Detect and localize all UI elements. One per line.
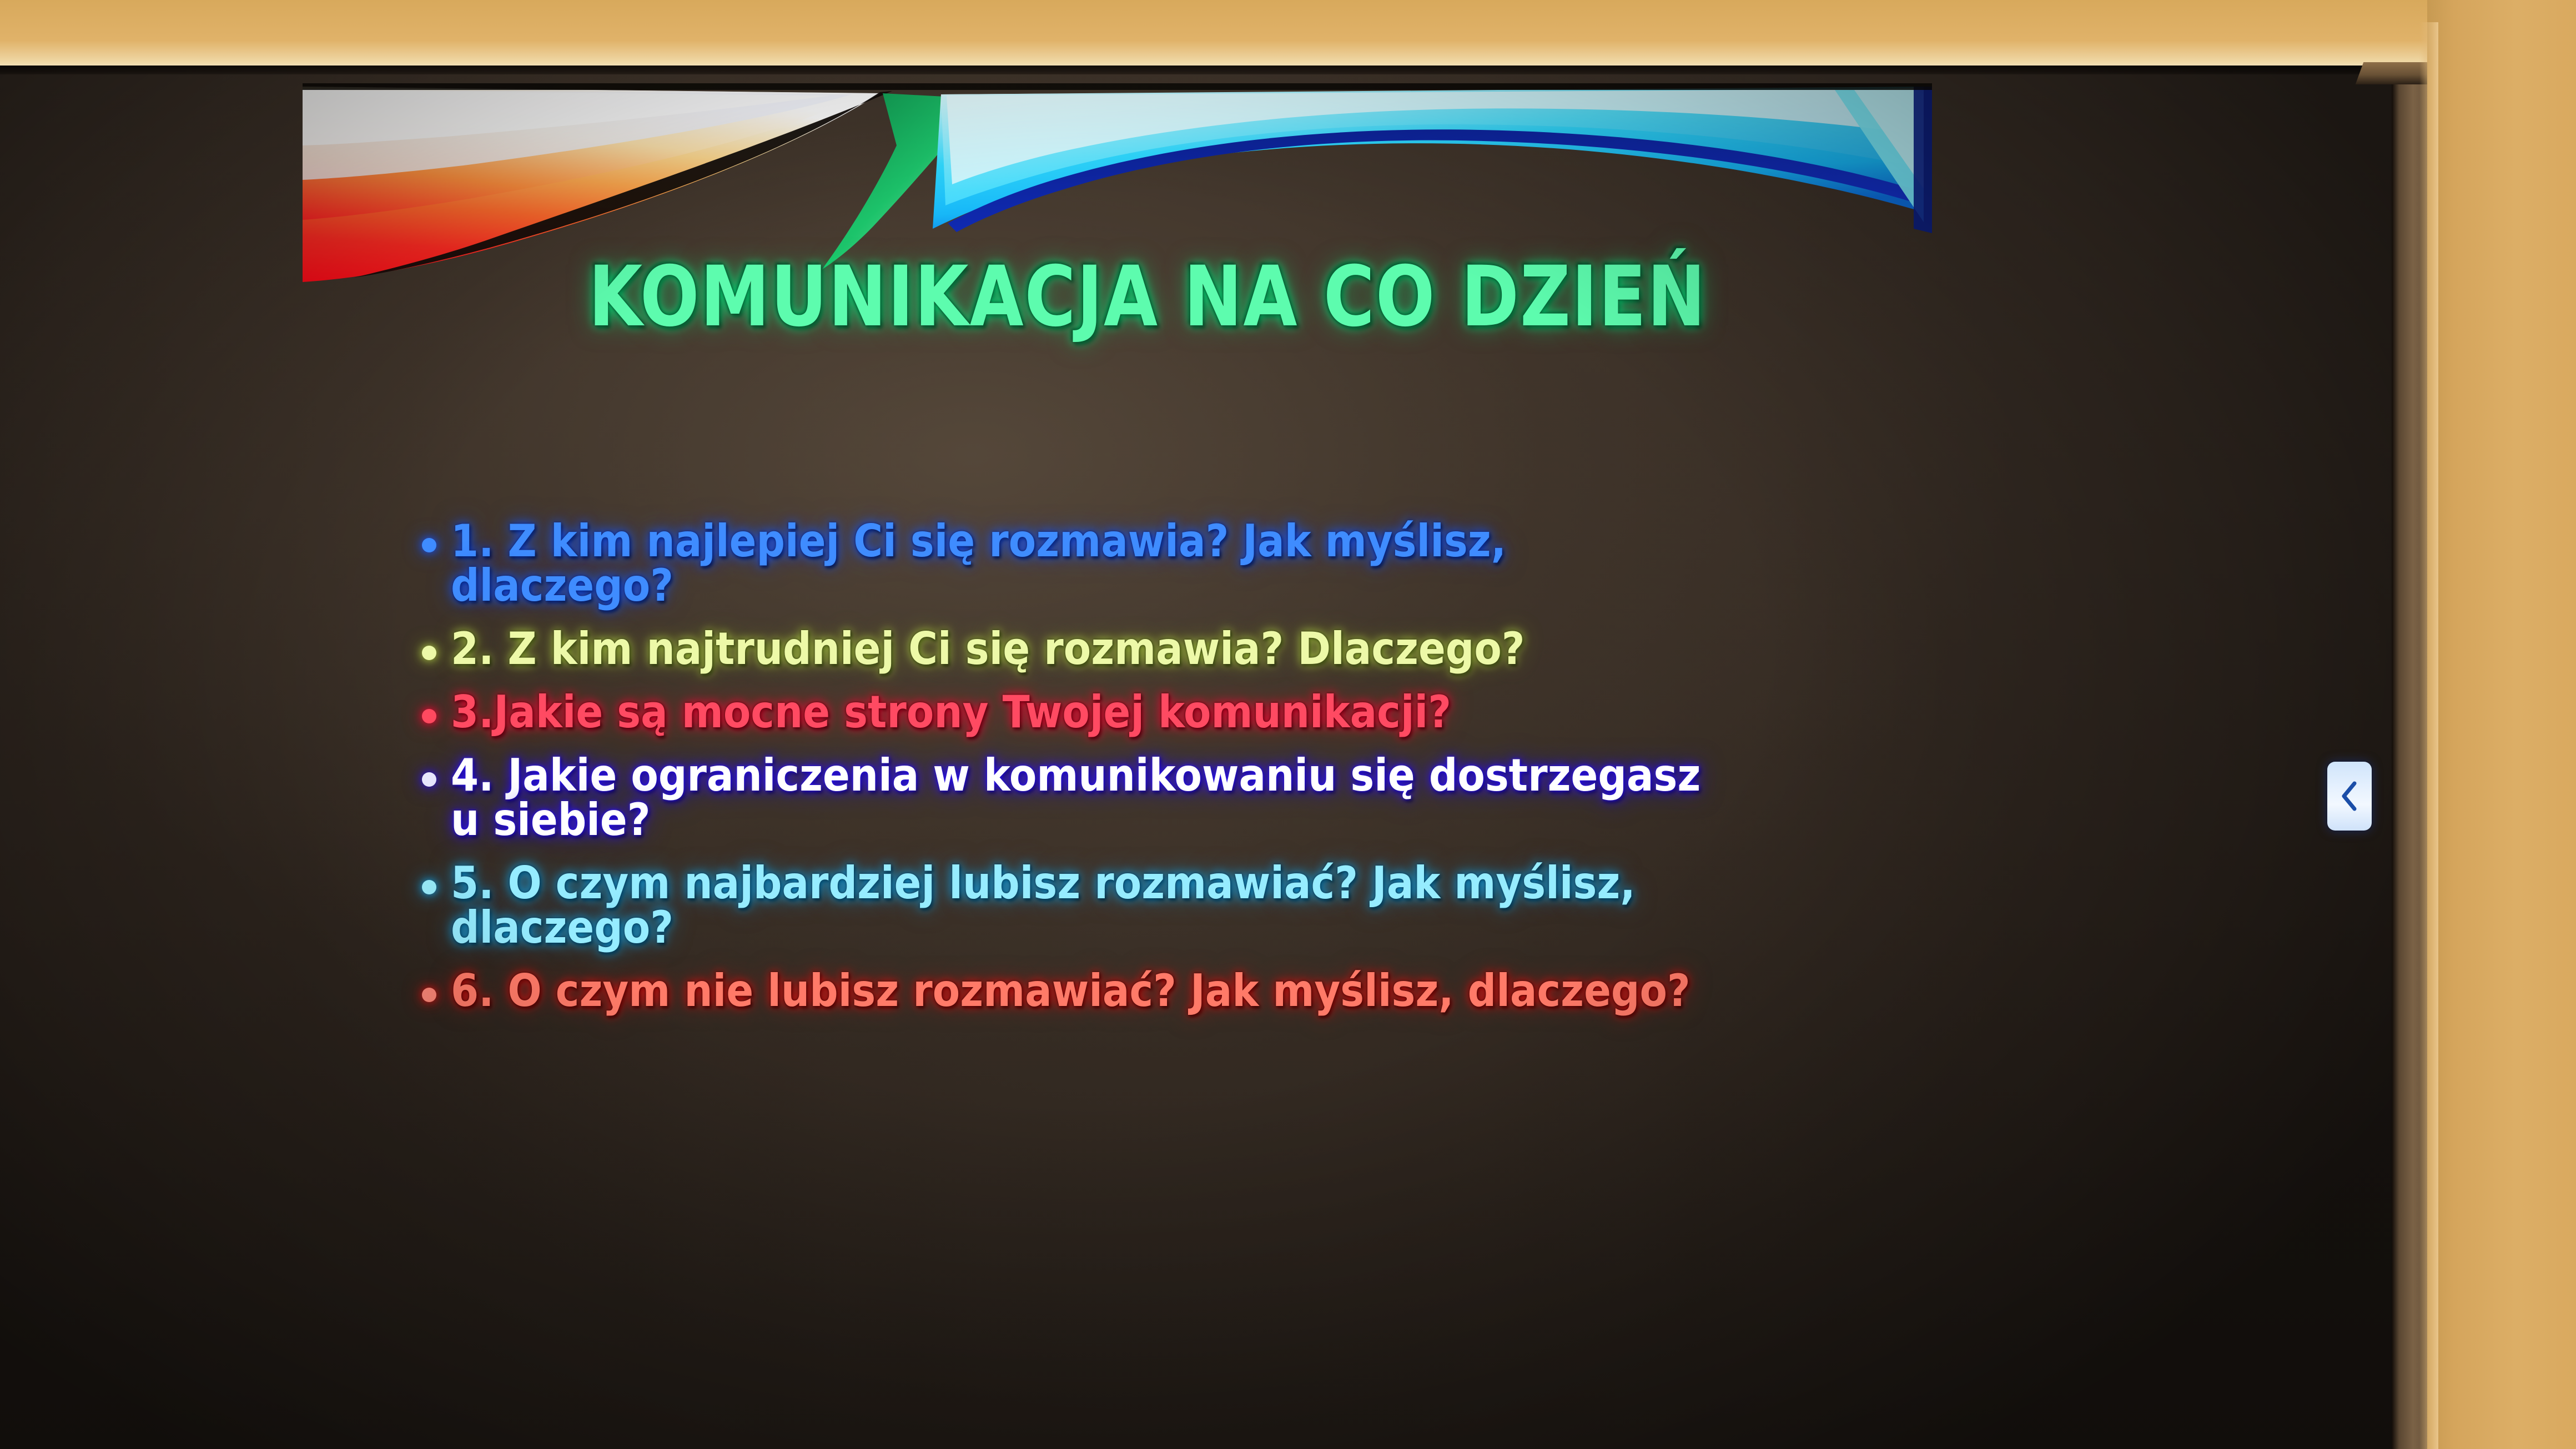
bullet-dot-icon — [422, 988, 436, 1002]
slide-title: KOMUNIKACJA NA CO DZIEŃ — [588, 249, 1931, 345]
previous-slide-button[interactable] — [2327, 762, 2372, 831]
chevron-left-icon — [2337, 779, 2362, 813]
list-item: 5. O czym najbardziej lubisz rozmawiać? … — [422, 861, 2032, 950]
bullet-dot-icon — [422, 538, 436, 552]
list-item: 3.Jakie są mocne strony Twojej komunikac… — [422, 690, 2032, 734]
bullet-dot-icon — [422, 880, 436, 894]
list-item: 6. O czym nie lubisz rozmawiać? Jak myśl… — [422, 969, 2032, 1013]
list-item-label: 3.Jakie są mocne strony Twojej komunikac… — [451, 690, 1874, 734]
list-item: 2. Z kim najtrudniej Ci się rozmawia? Dl… — [422, 627, 2032, 671]
bullet-dot-icon — [422, 772, 436, 787]
list-item: 1. Z kim najlepiej Ci się rozmawia? Jak … — [422, 519, 2032, 608]
list-item-label: 2. Z kim najtrudniej Ci się rozmawia? Dl… — [451, 627, 1874, 671]
wall-top — [0, 0, 2576, 73]
slide-bullet-list: 1. Z kim najlepiej Ci się rozmawia? Jak … — [422, 519, 2032, 1032]
list-item-label: 6. O czym nie lubisz rozmawiać? Jak myśl… — [451, 969, 1874, 1013]
list-item-label: 4. Jakie ograniczenia w komunikowaniu si… — [451, 753, 1874, 842]
projection-screen-top-edge — [0, 66, 2437, 74]
list-item-label: 1. Z kim najlepiej Ci się rozmawia? Jak … — [451, 519, 1874, 608]
list-item-label: 5. O czym najbardziej lubisz rozmawiać? … — [451, 861, 1874, 950]
wall-edge-highlight — [2419, 22, 2438, 1449]
bullet-dot-icon — [422, 709, 436, 723]
wall-right — [2427, 0, 2576, 1449]
bullet-dot-icon — [422, 646, 436, 660]
list-item: 4. Jakie ograniczenia w komunikowaniu si… — [422, 753, 2032, 842]
room-photo-scene: KOMUNIKACJA NA CO DZIEŃ 1. Z kim najlepi… — [0, 0, 2576, 1449]
